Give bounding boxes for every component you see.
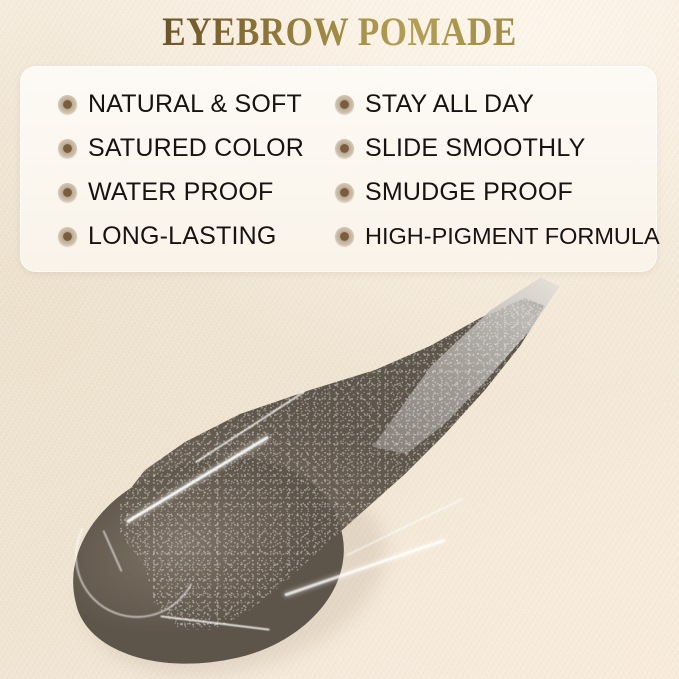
feature-label: NATURAL & SOFT	[88, 90, 302, 119]
bullet-dot-icon	[58, 183, 77, 202]
bullet-dot-icon	[58, 95, 77, 114]
feature-card: NATURAL & SOFT STAY ALL DAY SATURED COLO…	[20, 66, 657, 272]
feature-item-water-proof: WATER PROOF	[20, 170, 325, 214]
pomade-swatch	[60, 270, 560, 670]
product-feature-graphic: EYEBROW POMADE NATURAL & SOFT STAY ALL D…	[0, 0, 679, 679]
feature-label: HIGH-PIGMENT FORMULA	[365, 223, 660, 250]
feature-item-smudge-proof: SMUDGE PROOF	[325, 170, 657, 214]
feature-label: WATER PROOF	[88, 178, 274, 207]
feature-item-natural-soft: NATURAL & SOFT	[20, 82, 325, 126]
feature-label: STAY ALL DAY	[365, 90, 534, 119]
feature-item-slide-smoothly: SLIDE SMOOTHLY	[325, 126, 657, 170]
feature-label: SMUDGE PROOF	[365, 178, 573, 207]
swatch-blob	[60, 270, 560, 670]
feature-item-high-pigment-formula: HIGH-PIGMENT FORMULA	[325, 214, 657, 258]
bullet-dot-icon	[335, 227, 354, 246]
feature-item-long-lasting: LONG-LASTING	[20, 214, 325, 258]
feature-label: SLIDE SMOOTHLY	[365, 134, 585, 163]
bullet-dot-icon	[335, 95, 354, 114]
product-swatch-area	[0, 260, 679, 679]
bullet-dot-icon	[58, 139, 77, 158]
page-title: EYEBROW POMADE	[41, 8, 639, 55]
bullet-dot-icon	[335, 183, 354, 202]
feature-grid: NATURAL & SOFT STAY ALL DAY SATURED COLO…	[20, 66, 657, 272]
feature-label: LONG-LASTING	[88, 222, 277, 251]
bullet-dot-icon	[335, 139, 354, 158]
feature-label: SATURED COLOR	[88, 134, 304, 163]
feature-item-stay-all-day: STAY ALL DAY	[325, 82, 657, 126]
feature-item-satured-color: SATURED COLOR	[20, 126, 325, 170]
bullet-dot-icon	[58, 227, 77, 246]
